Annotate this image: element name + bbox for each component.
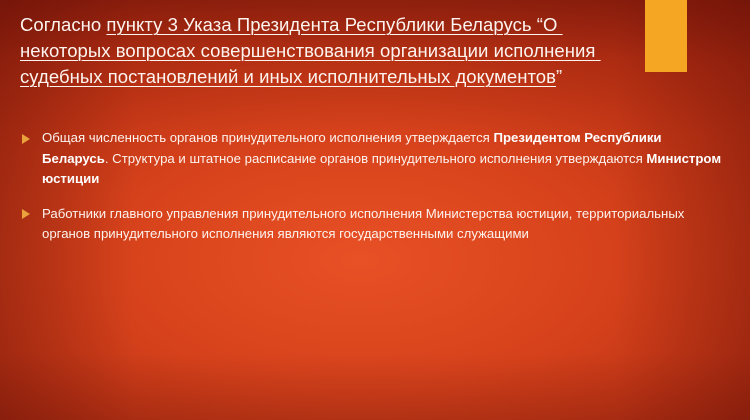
list-item: Работники главного управления принудител… xyxy=(20,204,730,245)
slide-title: Согласно пункту 3 Указа Президента Респу… xyxy=(20,12,620,90)
bullet-1-segment-1: Общая численность органов принудительног… xyxy=(42,130,493,145)
triangle-right-icon xyxy=(22,209,30,219)
list-item: Общая численность органов принудительног… xyxy=(20,128,730,190)
bullet-2-segment-1: Работники главного управления принудител… xyxy=(42,206,684,242)
slide-content: Согласно пункту 3 Указа Президента Респу… xyxy=(0,0,750,420)
bullet-1-segment-3: . Структура и штатное расписание органов… xyxy=(105,151,647,166)
presentation-slide: Согласно пункту 3 Указа Президента Респу… xyxy=(0,0,750,420)
title-underlined-citation: пункту 3 Указа Президента Республики Бел… xyxy=(20,14,601,87)
title-lead-text: Согласно xyxy=(20,14,106,35)
title-closing-quote: ” xyxy=(556,66,562,87)
bullet-list: Общая численность органов принудительног… xyxy=(20,128,730,259)
triangle-right-icon xyxy=(22,134,30,144)
